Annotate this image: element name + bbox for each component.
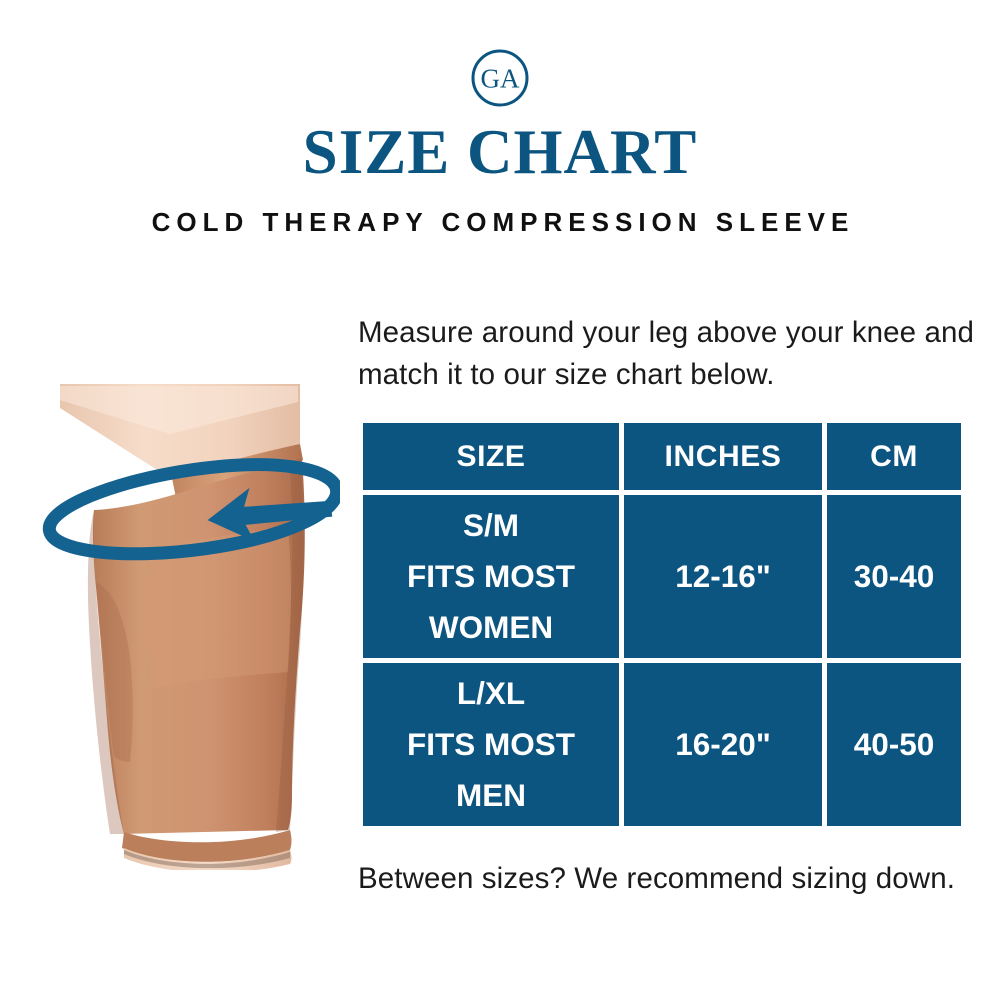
size-fits-label: FITS MOST (363, 719, 619, 770)
table-header-row: SIZE INCHES CM (363, 423, 961, 490)
measure-instruction-text: Measure around your leg above your knee … (358, 312, 990, 396)
sleeve-bottom-hem (122, 830, 292, 870)
cell-cm-sm: 30-40 (827, 495, 961, 658)
size-fits-label: FITS MOST (363, 551, 619, 602)
leg-with-sleeve-graphic (0, 382, 340, 870)
cell-size-lxl: L/XL FITS MOST MEN (363, 663, 619, 826)
sizing-recommendation-note: Between sizes? We recommend sizing down. (358, 858, 958, 900)
table-row: S/M FITS MOST WOMEN 12-16" 30-40 (363, 495, 961, 658)
table-header-size: SIZE (363, 423, 619, 490)
cell-size-sm: S/M FITS MOST WOMEN (363, 495, 619, 658)
cell-inches-sm: 12-16" (624, 495, 822, 658)
logo-monogram-text: GA (481, 64, 520, 94)
cell-cm-lxl: 40-50 (827, 663, 961, 826)
size-chart-table: SIZE INCHES CM S/M FITS MOST WOMEN 12-16… (358, 418, 966, 831)
brand-logo: GA (470, 48, 530, 108)
size-audience: MEN (363, 770, 619, 821)
table-header-inches: INCHES (624, 423, 822, 490)
size-code: L/XL (363, 668, 619, 719)
page-title: SIZE CHART (0, 116, 1000, 188)
page-subtitle: COLD THERAPY COMPRESSION SLEEVE (0, 206, 1000, 238)
size-code: S/M (363, 500, 619, 551)
size-audience: WOMEN (363, 602, 619, 653)
table-row: L/XL FITS MOST MEN 16-20" 40-50 (363, 663, 961, 826)
table-header-cm: CM (827, 423, 961, 490)
cell-inches-lxl: 16-20" (624, 663, 822, 826)
ga-monogram-circle-logo: GA (470, 48, 530, 108)
leg-illustration (0, 382, 340, 870)
